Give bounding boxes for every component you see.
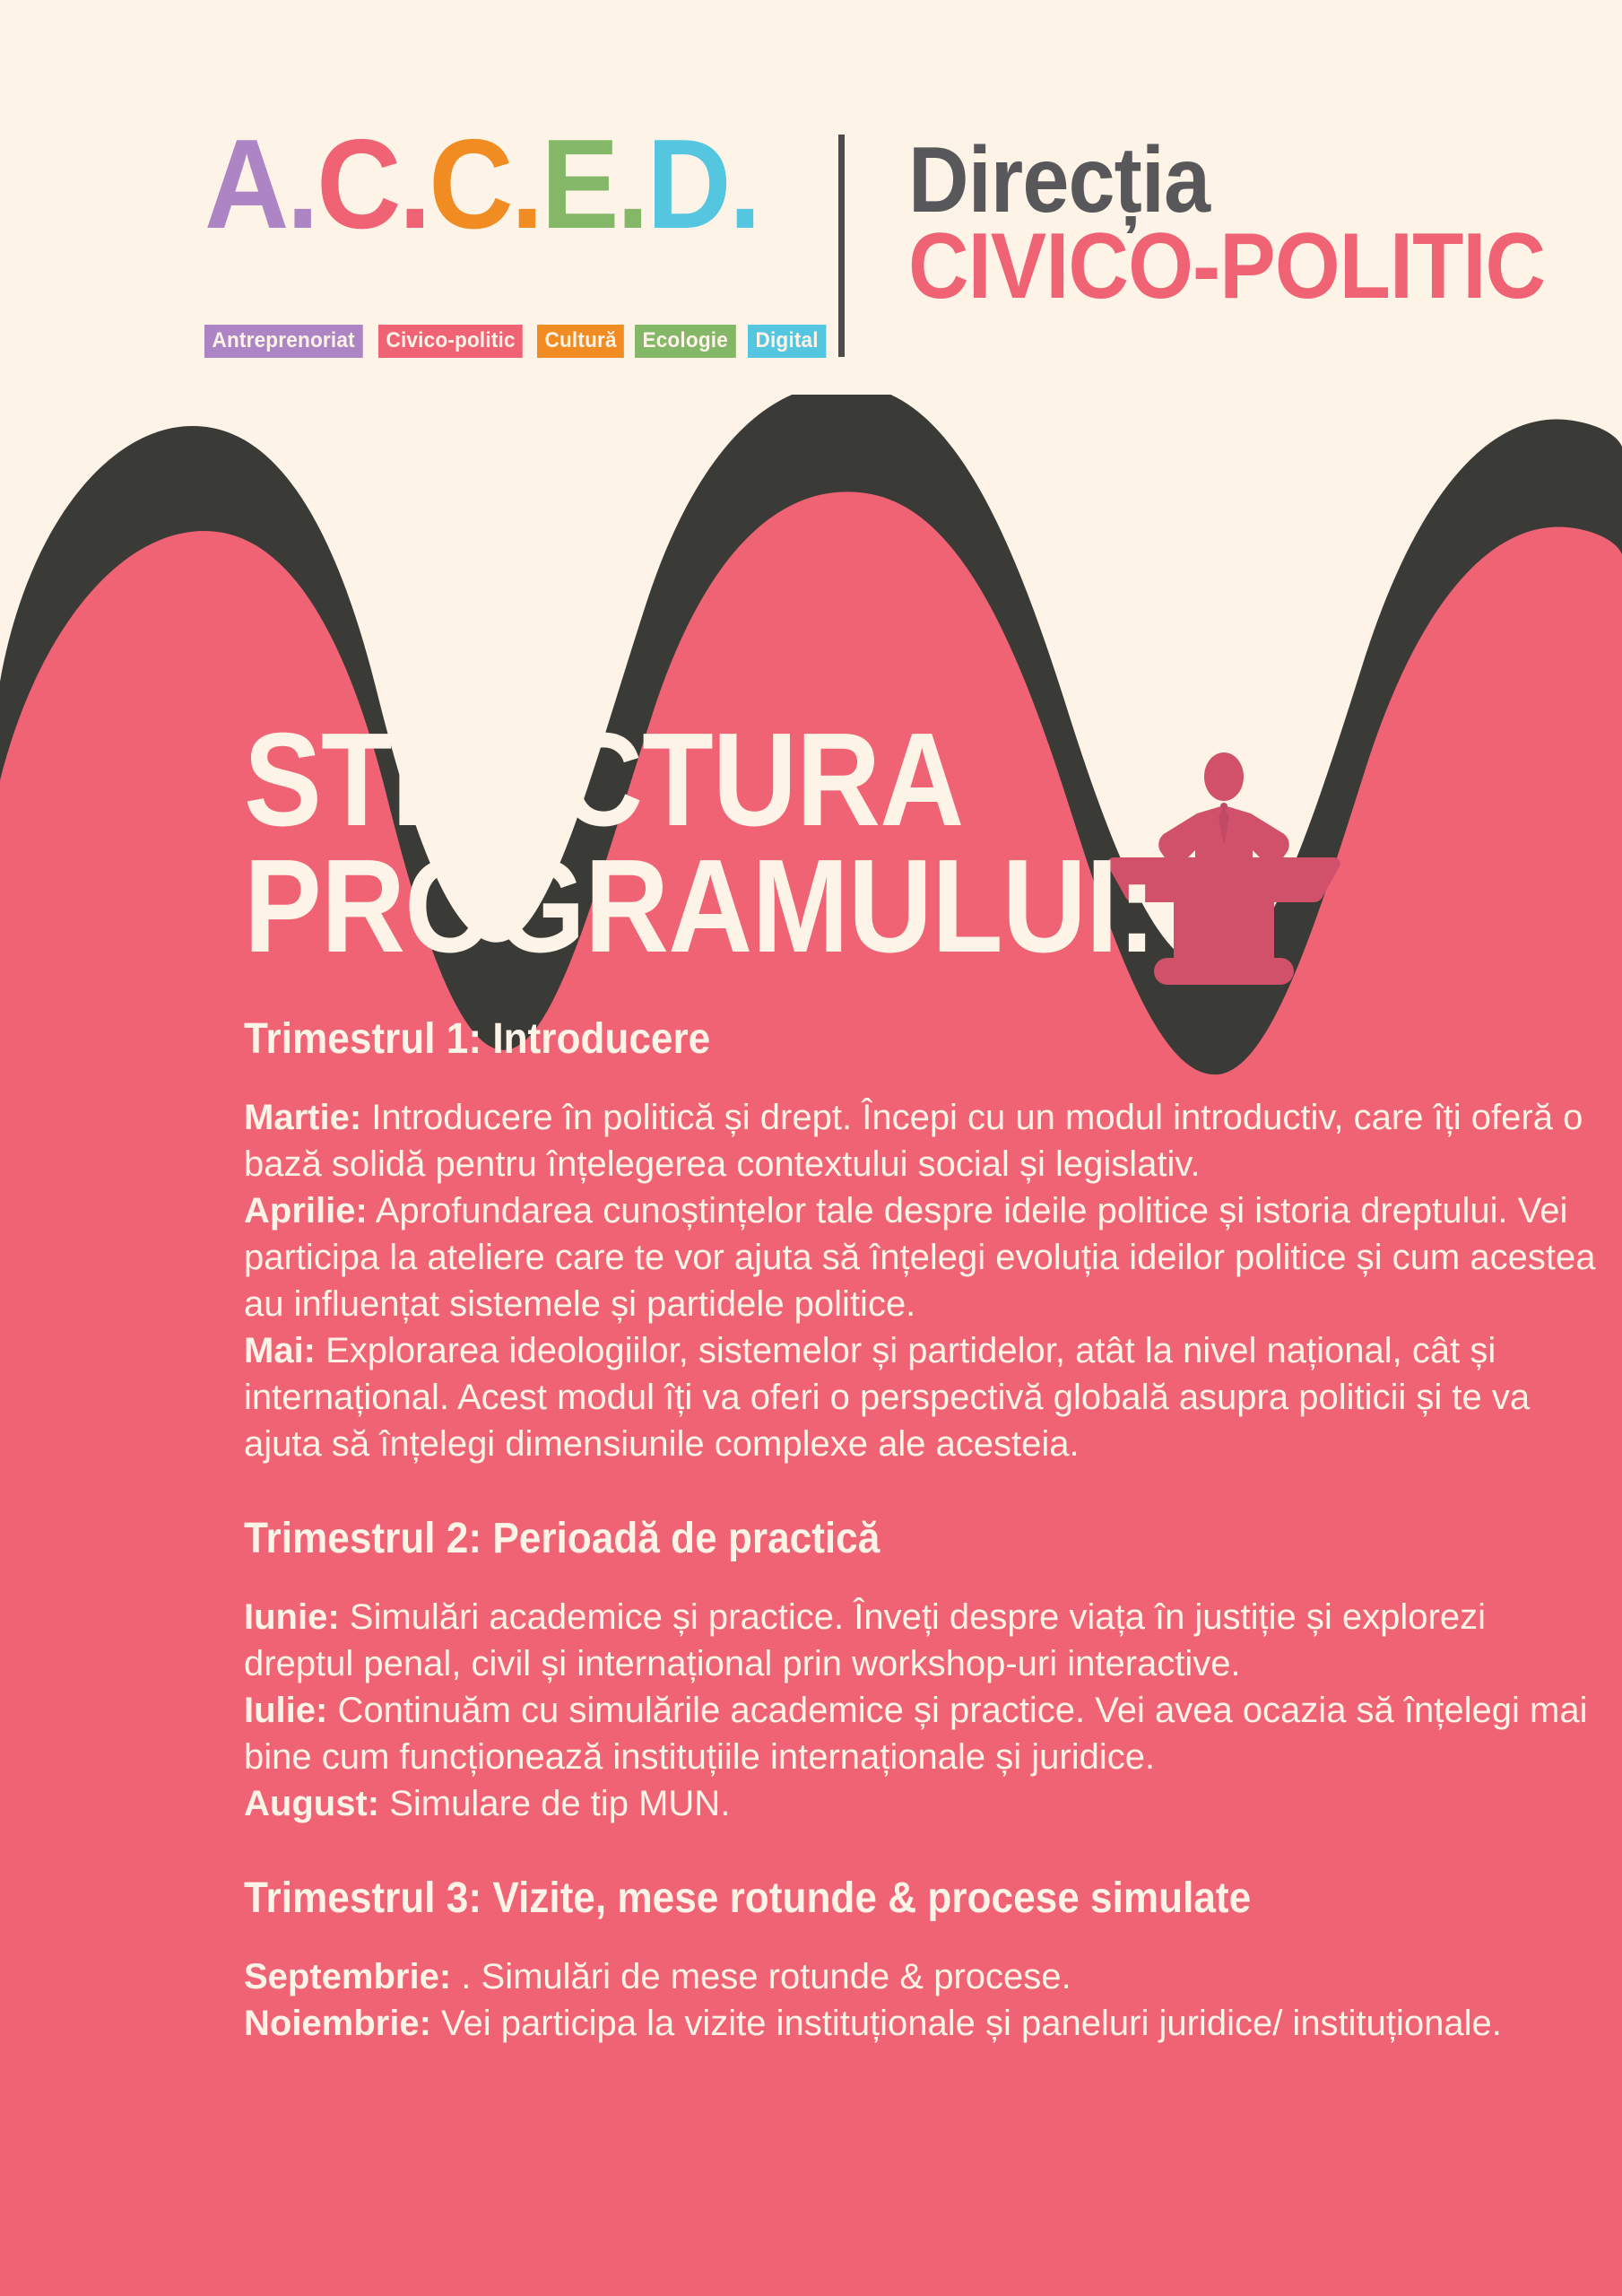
acced-letter-c2: C. <box>429 113 541 256</box>
item-label: August: <box>244 1784 379 1823</box>
acced-letter-d: D. <box>646 113 759 256</box>
tag-antreprenoriat: Antreprenoriat <box>204 325 362 358</box>
acced-letter-a: A. <box>204 113 317 256</box>
item-text: Simulare de tip MUN. <box>379 1784 730 1823</box>
item-text: . Simulări de mese rotunde & procese. <box>451 1957 1071 1996</box>
poster-canvas: A.C.C.E.D. Antreprenoriat Civico-politic… <box>0 0 1622 2296</box>
page-title: STRUCTURA PROGRAMULUI: <box>244 717 1444 970</box>
department-line-civico-politic: CIVICO-POLITIC <box>908 219 1545 314</box>
acced-tag-row: Antreprenoriat Civico-politic Cultură Ec… <box>204 325 831 358</box>
acced-logo-text: A.C.C.E.D. <box>204 133 759 237</box>
item-label: Septembrie: <box>244 1957 451 1996</box>
section-paragraph: Martie: Introducere în politică și drept… <box>244 1094 1598 1467</box>
section-paragraph: Septembrie: . Simulări de mese rotunde &… <box>244 1953 1598 2047</box>
department-title: Direcția CIVICO-POLITIC <box>908 133 1616 314</box>
tag-civico-politic: Civico-politic <box>378 325 523 358</box>
acced-letter-e: E. <box>541 113 646 256</box>
item-label: Aprilie: <box>244 1191 368 1231</box>
tag-digital: Digital <box>748 325 826 358</box>
section-trimestrul-1: Trimestrul 1: Introducere Martie: Introd… <box>244 1016 1607 1467</box>
item-label: Iunie: <box>244 1597 340 1637</box>
main-content: STRUCTURA PROGRAMULUI: Trimestrul 1: Int… <box>244 717 1607 2095</box>
acced-logo: A.C.C.E.D. <box>204 133 807 237</box>
section-trimestrul-2: Trimestrul 2: Perioadă de practică Iunie… <box>244 1516 1607 1827</box>
section-heading: Trimestrul 1: Introducere <box>244 1016 1497 1064</box>
tag-cultura: Cultură <box>537 325 624 358</box>
poster-header: A.C.C.E.D. Antreprenoriat Civico-politic… <box>0 0 1622 395</box>
item-text: Simulări academice și practice. Înveți d… <box>244 1597 1486 1683</box>
tag-ecologie: Ecologie <box>635 325 735 358</box>
section-trimestrul-3: Trimestrul 3: Vizite, mese rotunde & pro… <box>244 1875 1607 2047</box>
item-text: Vei participa la vizite instituționale ș… <box>431 2004 1502 2043</box>
item-text: Continuăm cu simulările academice și pra… <box>244 1691 1587 1777</box>
item-label: Mai: <box>244 1331 316 1370</box>
item-text: Introducere în politică și drept. Începi… <box>244 1098 1583 1184</box>
section-heading: Trimestrul 3: Vizite, mese rotunde & pro… <box>244 1875 1497 1923</box>
section-heading: Trimestrul 2: Perioadă de practică <box>244 1516 1497 1563</box>
item-text: Aprofundarea cunoștințelor tale despre i… <box>244 1191 1595 1324</box>
item-label: Iulie: <box>244 1691 327 1730</box>
acced-letter-c1: C. <box>317 113 429 256</box>
item-label: Noiembrie: <box>244 2004 431 2043</box>
item-label: Martie: <box>244 1098 361 1137</box>
header-vertical-divider <box>838 135 845 357</box>
section-paragraph: Iunie: Simulări academice și practice. Î… <box>244 1594 1598 1827</box>
item-text: Explorarea ideologiilor, sistemelor și p… <box>244 1331 1530 1464</box>
